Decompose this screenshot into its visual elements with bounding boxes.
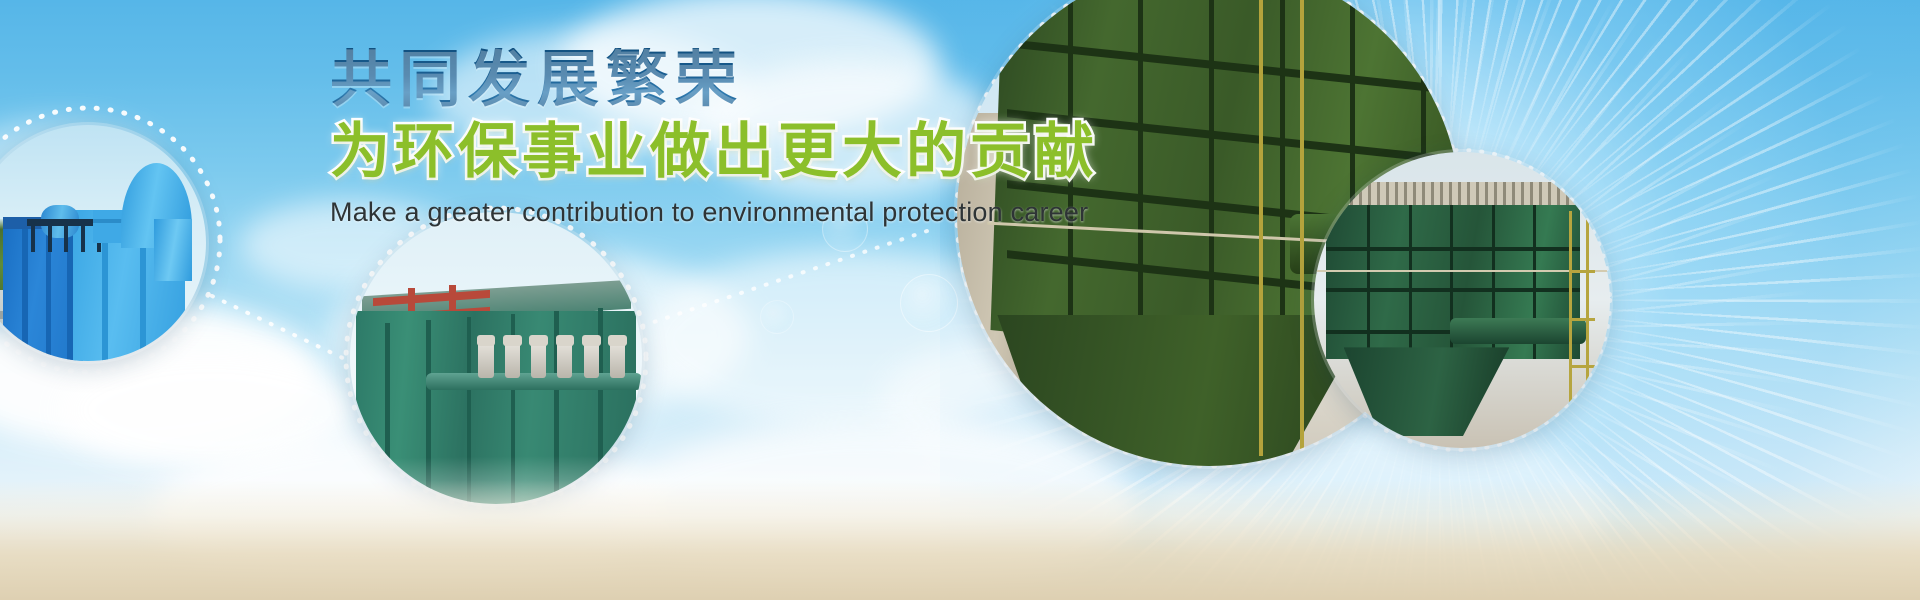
hero-banner: 共同发展繁荣 为环保事业做出更大的贡献 Make a greater contr… xyxy=(0,0,1920,600)
photo-blue-dust-collector xyxy=(0,125,206,361)
banner-headline: 共同发展繁荣 xyxy=(330,48,1190,110)
banner-tagline: Make a greater contribution to environme… xyxy=(330,196,1190,228)
photo-green-cyclone-unit xyxy=(1314,152,1610,448)
ground-strip xyxy=(0,480,1920,600)
banner-copy: 共同发展繁荣 为环保事业做出更大的贡献 Make a greater contr… xyxy=(330,48,1190,228)
banner-subheadline: 为环保事业做出更大的贡献 xyxy=(330,122,1190,182)
